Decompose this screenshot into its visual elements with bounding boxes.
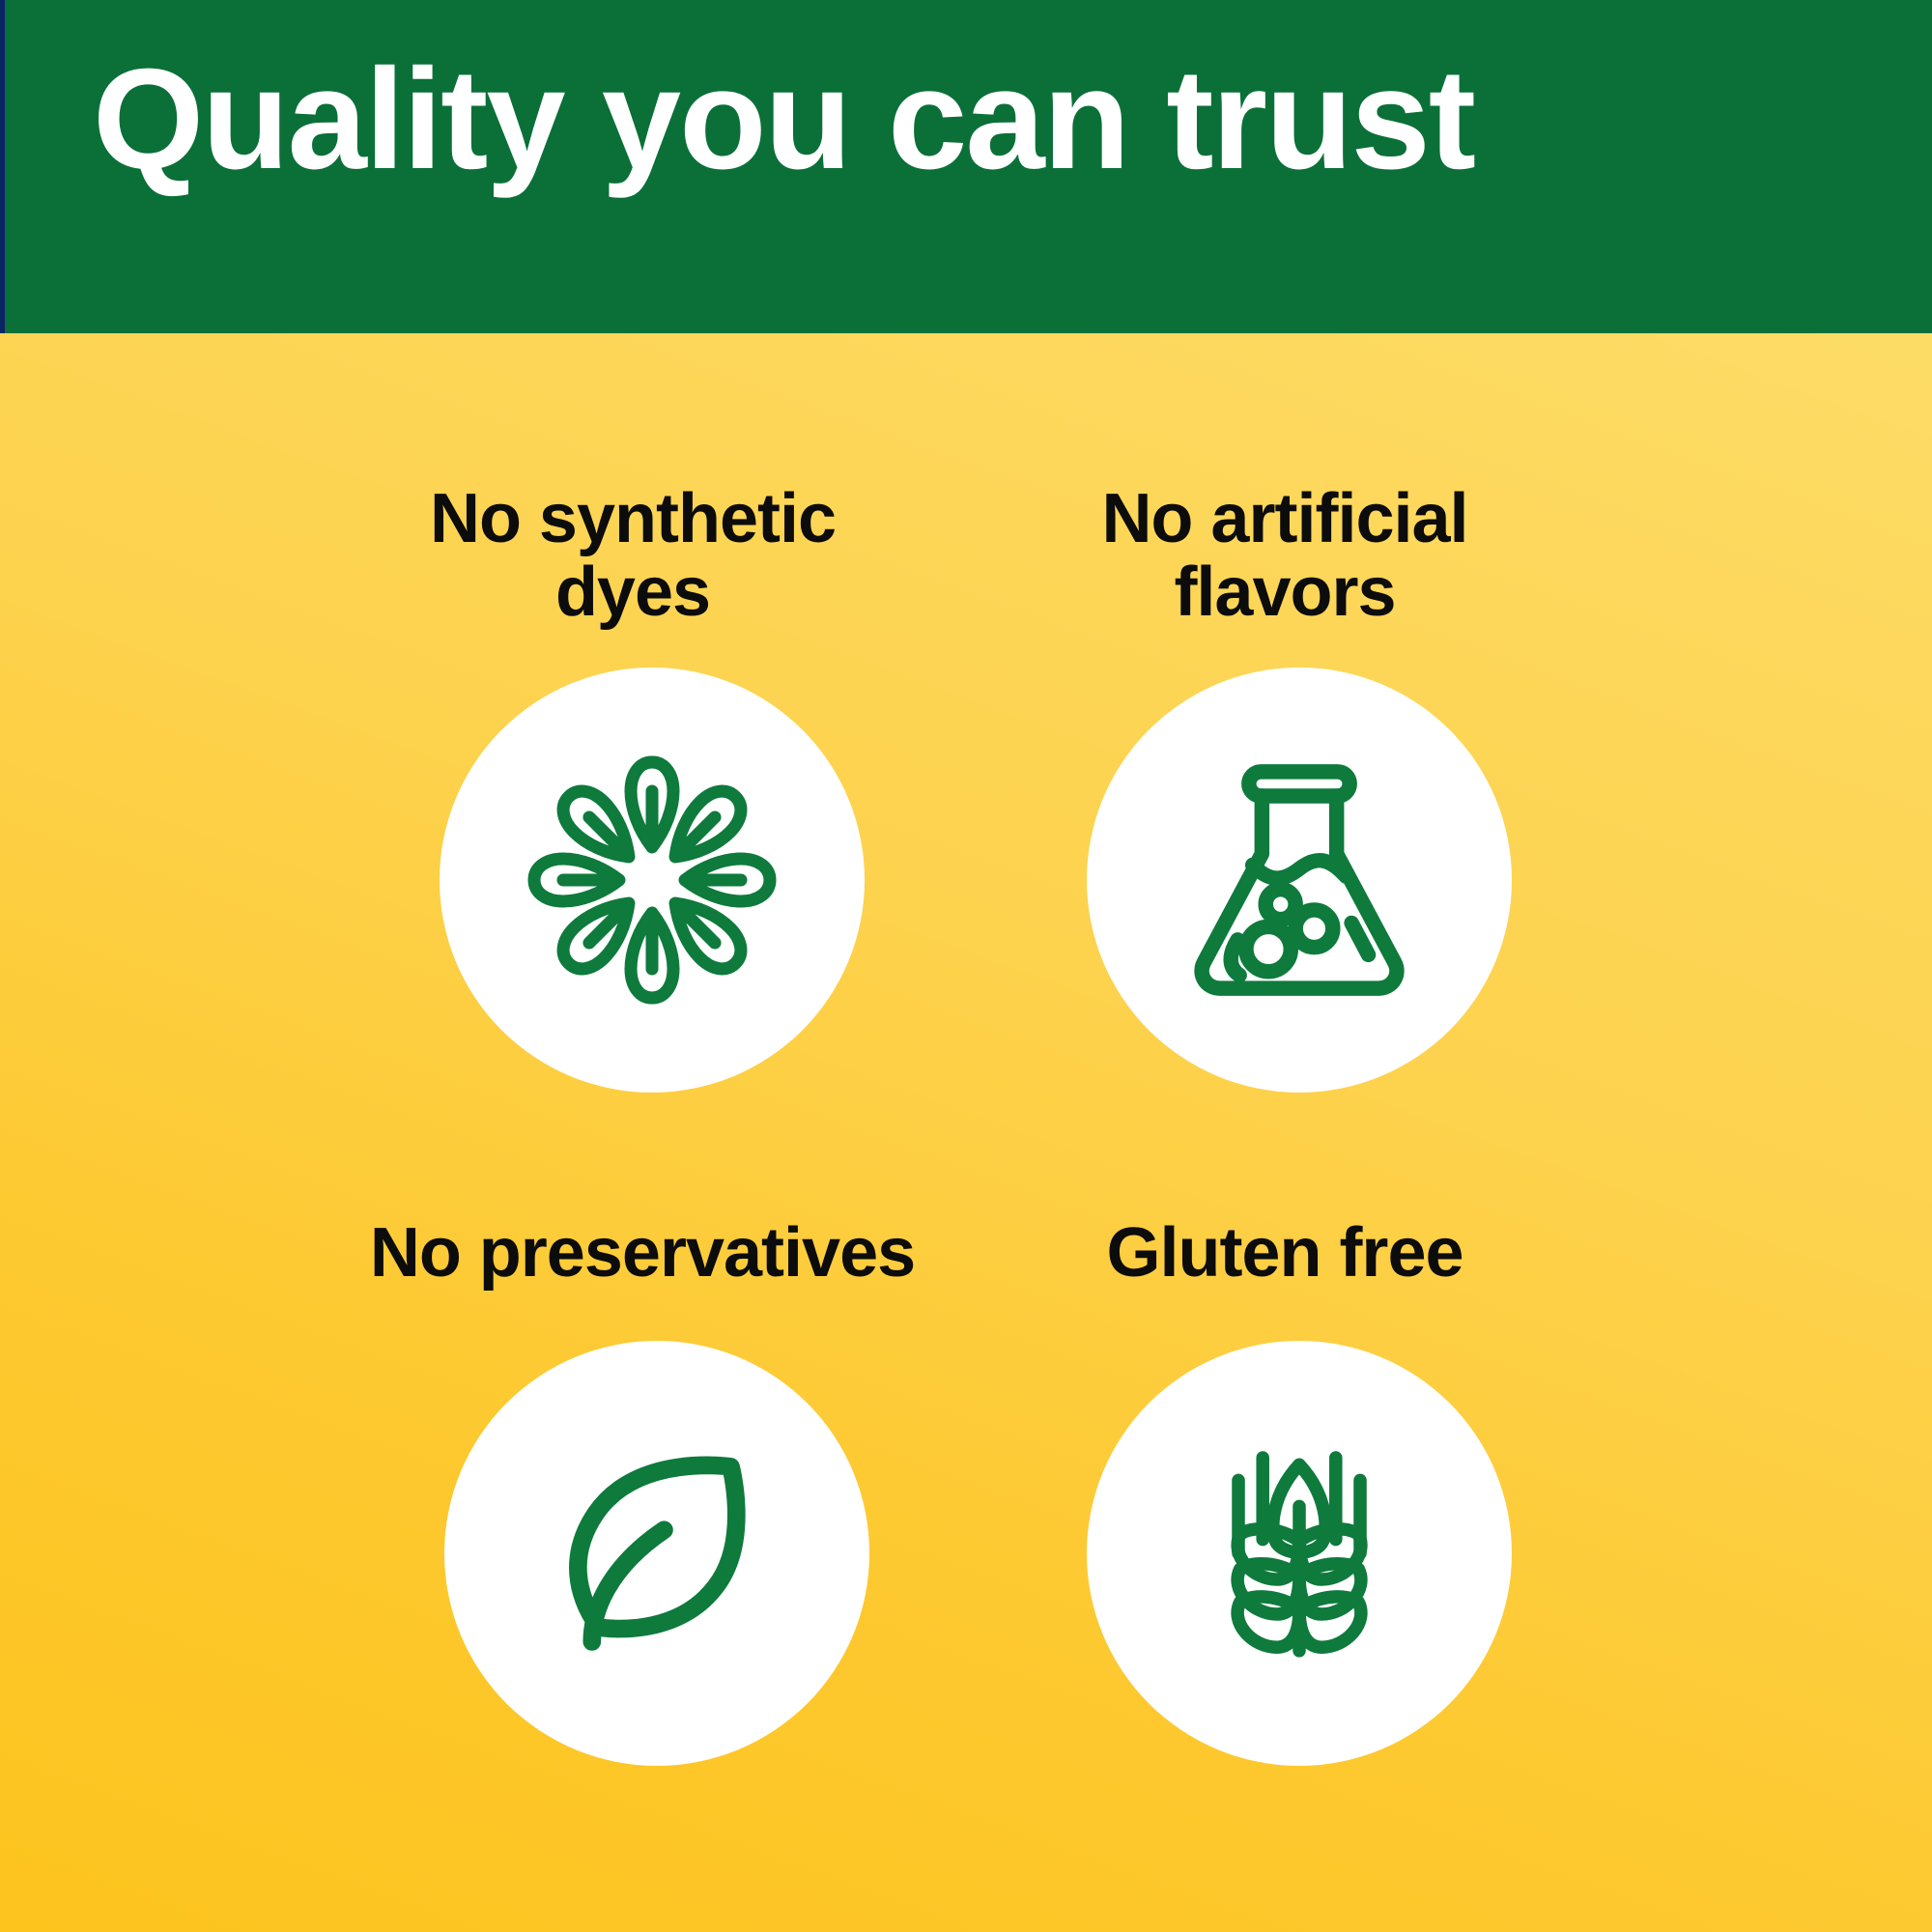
claim-no-preservatives: No preservatives (353, 1217, 971, 1766)
claims-grid: No synthetic dyes (0, 333, 1932, 1932)
claim-gluten-free: Gluten free (995, 1217, 1613, 1766)
claim-label: No synthetic dyes (353, 483, 913, 629)
wheat-icon (1169, 1423, 1430, 1684)
icon-circle (1087, 668, 1512, 1093)
leaf-icon (522, 1418, 792, 1689)
claim-label: No preservatives (343, 1217, 942, 1291)
dye-splash-icon (507, 735, 797, 1025)
flask-icon (1159, 740, 1439, 1020)
left-edge-stripe (0, 0, 5, 333)
claim-label: No artificial flavors (1014, 483, 1555, 629)
page-title: Quality you can trust (93, 48, 1889, 191)
icon-circle (1087, 1341, 1512, 1766)
icon-circle (444, 1341, 869, 1766)
claim-label: Gluten free (1082, 1217, 1488, 1291)
claim-no-artificial-flavors: No artificial flavors (995, 483, 1613, 1093)
header-banner: Quality you can trust (0, 0, 1932, 333)
claim-no-synthetic-dyes: No synthetic dyes (343, 483, 961, 1093)
quality-badge-graphic: Quality you can trust No synthetic dyes (0, 0, 1932, 1932)
icon-circle (440, 668, 865, 1093)
